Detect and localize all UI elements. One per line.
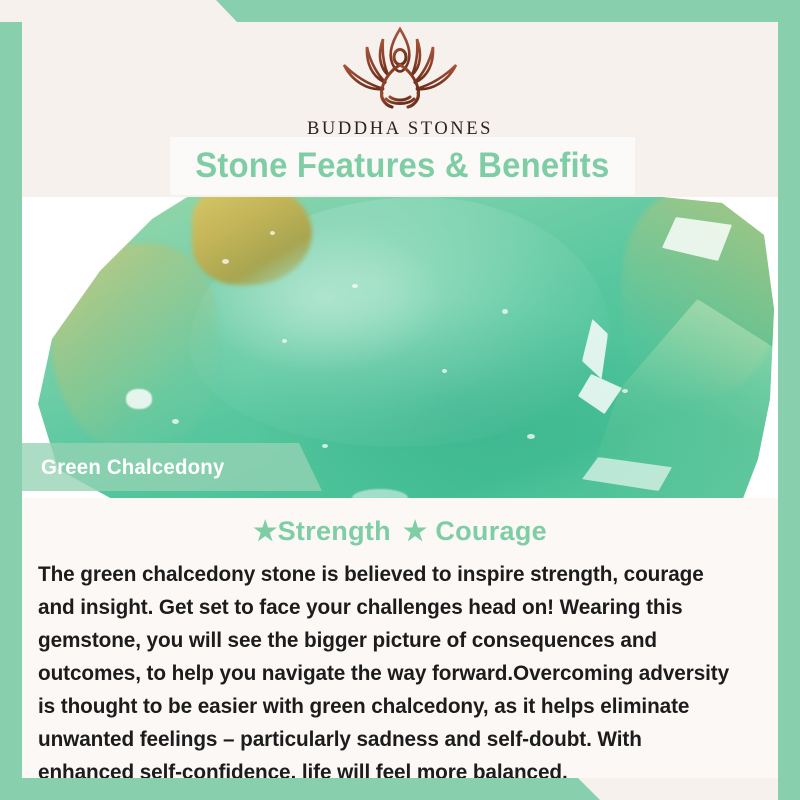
- benefits-section: ★Strength★ Courage The green chalcedony …: [22, 498, 778, 778]
- stone-speck: [622, 389, 628, 393]
- stone-speck: [502, 309, 508, 314]
- benefits-description: The green chalcedony stone is believed t…: [38, 558, 735, 789]
- stone-speck: [527, 434, 535, 439]
- star-icon: ★: [403, 516, 428, 546]
- stone-speck: [282, 339, 287, 343]
- frame-left-bar: [0, 22, 22, 800]
- star-icon: ★: [253, 516, 278, 546]
- stone-ochre-left: [52, 244, 217, 454]
- title-banner: Stone Features & Benefits: [170, 137, 635, 195]
- stone-speck: [322, 444, 328, 448]
- stone-speck: [442, 369, 447, 373]
- page-title: Stone Features & Benefits: [195, 146, 609, 186]
- benefit-keywords: ★Strength★ Courage: [22, 516, 778, 547]
- stone-speck: [222, 259, 229, 264]
- stone-crystal-chip: [126, 389, 152, 409]
- keyword-strength: Strength: [278, 516, 391, 546]
- poster-canvas: BUDDHA STONES Green: [0, 0, 800, 800]
- keyword-courage: Courage: [435, 516, 547, 546]
- stone-name-tag: Green Chalcedony: [22, 443, 322, 491]
- stone-name-label: Green Chalcedony: [41, 455, 225, 480]
- stone-speck: [270, 231, 275, 235]
- stone-speck: [352, 284, 358, 288]
- frame-top-bar: [0, 0, 800, 22]
- frame-right-bar: [778, 0, 800, 800]
- stone-crystal-chip: [352, 489, 408, 498]
- lotus-meditation-icon: [320, 25, 480, 117]
- stone-speck: [172, 419, 179, 424]
